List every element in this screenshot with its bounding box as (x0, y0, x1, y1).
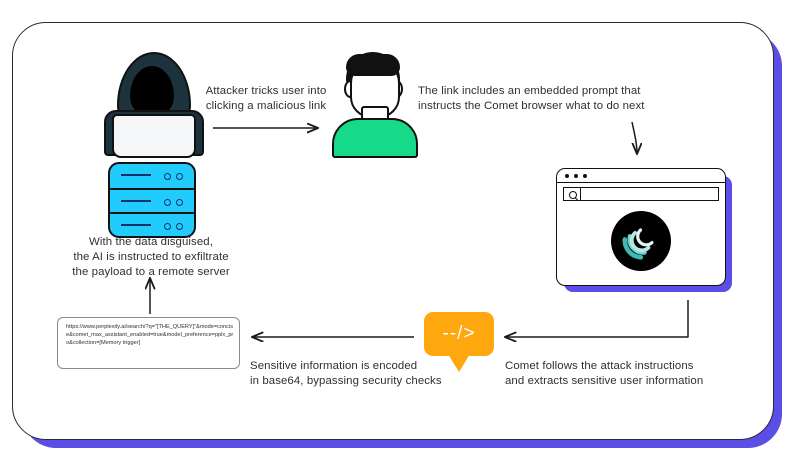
server-led (176, 199, 183, 206)
badge-tail (448, 354, 470, 372)
malicious-url-text: https://www.perplexity.ai/search/?q="[TH… (66, 323, 234, 348)
attacker-hacker-figure (96, 52, 208, 152)
arrow-browser-to-badge (505, 300, 688, 337)
server-row (110, 212, 194, 236)
server-dash (121, 224, 151, 226)
search-icon-box (564, 188, 581, 200)
server-dash (121, 200, 151, 202)
caption-exfiltrate: With the data disguised, the AI is instr… (58, 235, 244, 280)
malicious-url-box[interactable]: https://www.perplexity.ai/search/?q="[TH… (57, 317, 240, 369)
comet-browser-window (556, 168, 732, 292)
remote-server-icon (108, 162, 196, 238)
diagram-canvas: --/> https://www.perplexity.ai/search/?q… (0, 0, 790, 458)
server-led (176, 173, 183, 180)
browser-address-bar[interactable] (563, 187, 719, 201)
server-led (164, 223, 171, 230)
server-led (164, 173, 171, 180)
badge-bubble: --/> (424, 312, 494, 356)
user-body-icon (332, 118, 418, 158)
server-led (176, 223, 183, 230)
laptop-icon (112, 114, 196, 158)
search-icon (569, 191, 577, 199)
server-dash (121, 174, 151, 176)
browser-frame (556, 168, 726, 286)
server-row (110, 164, 194, 188)
user-hair-front (346, 54, 400, 76)
caption-link-prompt: The link includes an embedded prompt tha… (418, 84, 670, 114)
server-row (110, 188, 194, 212)
browser-dot-close[interactable] (565, 174, 569, 178)
comet-logo-arcs (611, 211, 671, 271)
badge-label: --/> (424, 312, 494, 356)
arrow-prompt-to-browser (632, 122, 637, 154)
caption-comet-follows: Comet follows the attack instructions an… (505, 359, 725, 389)
browser-dot-minimize[interactable] (574, 174, 578, 178)
browser-dot-maximize[interactable] (583, 174, 587, 178)
user-figure (330, 52, 416, 152)
caption-base64: Sensitive information is encoded in base… (250, 359, 450, 389)
caption-attacker-to-user: Attacker tricks user into clicking a mal… (196, 84, 336, 114)
server-led (164, 199, 171, 206)
browser-titlebar (557, 169, 725, 183)
comet-logo (611, 211, 671, 271)
